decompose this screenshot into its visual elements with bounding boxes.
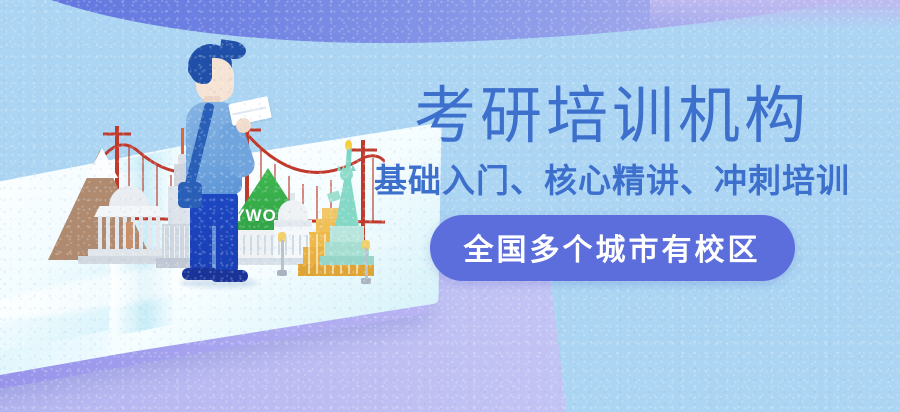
cta-container: 全国多个城市有校区 (352, 215, 872, 281)
banner-subheadline: 基础入门、核心精讲、冲刺培训 (352, 164, 872, 197)
figure-leg-gap (212, 226, 216, 272)
mountain-snow-cap-icon (86, 148, 118, 178)
banner-copy-block: 考研培训机构 基础入门、核心精讲、冲刺培训 全国多个城市有校区 (352, 86, 872, 281)
memorial-dome (109, 186, 149, 208)
promo-banner: LLYWO (0, 0, 900, 412)
student-figure (168, 44, 258, 294)
figure-hair-front (190, 56, 212, 84)
figure-left-shoe (182, 268, 216, 280)
banner-headline: 考研培训机构 (352, 86, 872, 148)
top-swoosh-fade (650, 0, 900, 30)
street-lamp-icon (278, 230, 286, 276)
figure-shoulder-bag (178, 182, 202, 208)
figure-hand (236, 118, 251, 133)
liberty-tablet (327, 190, 341, 202)
campus-locations-cta-button[interactable]: 全国多个城市有校区 (430, 215, 795, 281)
figure-right-shoe (212, 270, 248, 282)
memorial-door (126, 222, 133, 248)
